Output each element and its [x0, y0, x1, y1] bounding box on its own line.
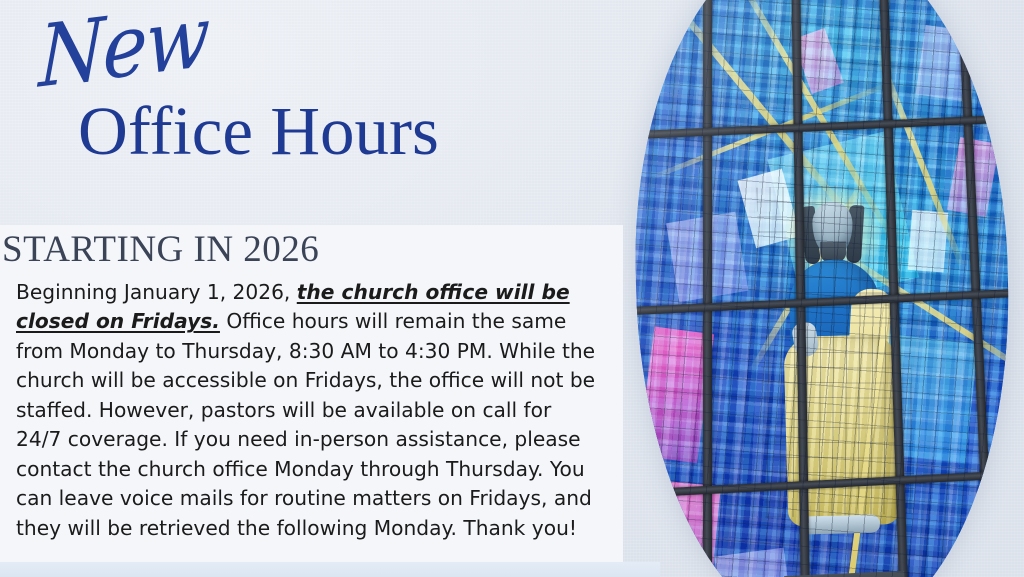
panel-heading: STARTING IN 2026: [2, 225, 623, 272]
glass-shard-violet: [916, 25, 982, 103]
poster-canvas: New Office Hours STARTING IN 2026 Beginn…: [0, 0, 1024, 577]
headline-script-word: New: [38, 0, 209, 107]
feet: [800, 515, 880, 535]
bottom-accent-band: [0, 562, 660, 577]
body-segment-2: Office hours will remain the same from M…: [16, 309, 595, 539]
body-segment-1: Beginning January 1, 2026,: [16, 280, 297, 304]
headline-serif-words: Office Hours: [78, 92, 439, 171]
panel-heading-wrap: STARTING IN 2026: [0, 225, 623, 272]
announcement-panel: STARTING IN 2026 Beginning January 1, 20…: [0, 225, 623, 563]
stained-glass-window-image: [627, 0, 1017, 577]
panel-body-text: Beginning January 1, 2026, the church of…: [0, 272, 623, 543]
